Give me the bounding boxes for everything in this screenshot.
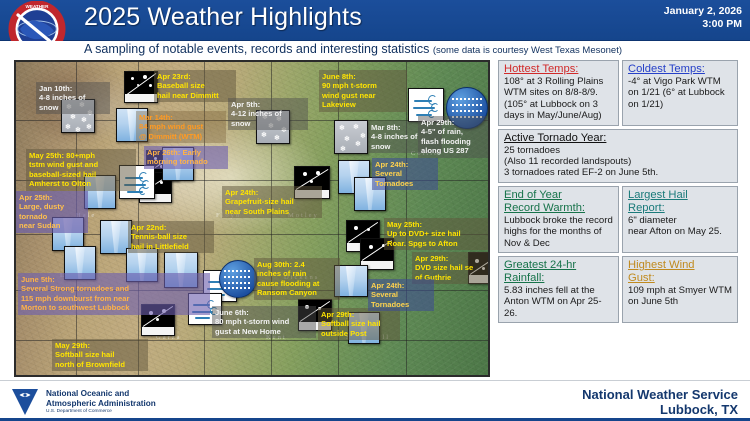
- footer-bar: National Oceanic and Atmospheric Adminis…: [0, 380, 750, 421]
- stat-body: 109 mph at Smyer WTM on June 5th: [628, 285, 733, 308]
- subheader-bar: A sampling of notable events, records an…: [0, 41, 750, 58]
- map-label-apr-25-sudan: Apr 25th: Large, dusty tornado near Suda…: [16, 191, 88, 233]
- stat-body: 108° at 3 Rolling Plains WTM sites on 8/…: [504, 76, 614, 122]
- stat-body: 6" diameter near Afton on May 25.: [628, 215, 733, 238]
- page-title: 2025 Weather Highlights: [84, 3, 362, 32]
- map-label-apr-29-flood: Apr 29th: 4-5" of rain, flash flooding a…: [418, 116, 490, 158]
- header-bar: WEATHER ★ ★ ★ 2025 Weather Highlights Ja…: [0, 0, 750, 41]
- stat-body: 5.83 inches fell at the Anton WTM on Apr…: [504, 285, 614, 319]
- map-label-apr-24-southplains: Apr 24th: Grapefruit-size hail near Sout…: [222, 186, 322, 218]
- stat-body: Lubbock broke the record highs for the m…: [504, 215, 614, 249]
- stat-title: Hottest Temps:: [504, 63, 614, 76]
- header-date: January 2, 2026: [552, 5, 742, 18]
- subtitle-main: A sampling of notable events, records an…: [84, 42, 429, 56]
- stat-card-coldest-temps: Coldest Temps: -4° at Vigo Park WTM on 1…: [622, 60, 738, 126]
- map-label-apr-05-snow: Apr 5th: 4-12 inches of snow: [228, 98, 308, 130]
- subtitle: A sampling of notable events, records an…: [84, 42, 622, 56]
- noaa-line-3: U.S. Department of Commerce: [46, 409, 156, 414]
- svg-text:WEATHER: WEATHER: [26, 4, 50, 9]
- map-label-apr-26-tornado: Apr 26th: Early morning tornado: [144, 146, 228, 169]
- stat-row-tornado: Active Tornado Year: 25 tornadoes (Also …: [498, 129, 738, 183]
- map-label-apr-23-hail: Apr 23rd: Baseball size hail near Dimmit…: [154, 70, 236, 102]
- flood-icon: [219, 260, 257, 298]
- county-line: [204, 62, 205, 375]
- stat-title: Active Tornado Year:: [504, 132, 733, 145]
- office-location: Lubbock, TX: [582, 403, 738, 418]
- stat-title: Coldest Temps:: [628, 63, 733, 76]
- map-label-may-29-brownfield: May 29th: Softball size hail north of Br…: [52, 339, 148, 371]
- stat-row-warmth-hail: End of Year Record Warmth: Lubbock broke…: [498, 186, 738, 253]
- stat-card-end-of-year-record-warmth: End of Year Record Warmth: Lubbock broke…: [498, 186, 619, 253]
- stat-body: 25 tornadoes (Also 11 recorded landspout…: [504, 145, 733, 179]
- map-label-apr-24-tornadoes-north: Apr 24th: Several Tornadoes: [372, 158, 438, 190]
- stat-title: End of Year Record Warmth:: [504, 189, 614, 215]
- hail-photo-icon: [124, 71, 158, 103]
- header-time: 3:00 PM: [552, 18, 742, 31]
- noaa-line-2: Atmospheric Administration: [46, 399, 156, 409]
- map-label-apr-24-tornadoes-south: Apr 24th: Several Tornadoes: [368, 279, 434, 311]
- map-label-jan-10-snow: Jan 10th: 4-8 inches of snow: [36, 82, 110, 114]
- office-identification: National Weather Service Lubbock, TX: [582, 388, 738, 417]
- map-label-jun-08-wind: June 8th: 90 mph t-storm wind gust near …: [319, 70, 407, 112]
- stat-body: -4° at Vigo Park WTM on 1/21 (6° at Lubb…: [628, 76, 733, 110]
- stat-row-rainfall-wind: Greatest 24-hr Rainfall: 5.83 inches fel…: [498, 256, 738, 323]
- regional-event-map: Parmer Castro Hale Floyd Motley Cottle L…: [14, 60, 490, 377]
- stat-title: Highest Wind Gust:: [628, 259, 733, 285]
- noaa-line-1: National Oceanic and: [46, 389, 156, 399]
- office-name: National Weather Service: [582, 388, 738, 403]
- stat-card-hottest-temps: Hottest Temps: 108° at 3 Rolling Plains …: [498, 60, 619, 126]
- stat-card-active-tornado-year: Active Tornado Year: 25 tornadoes (Also …: [498, 129, 738, 183]
- stat-title: Largest Hail Report:: [628, 189, 733, 215]
- weather-highlights-graphic: WEATHER ★ ★ ★ 2025 Weather Highlights Ja…: [0, 0, 750, 421]
- map-label-mar-14-wind: Mar 14th: 84 mph wind gust @ Dimmitt (WT…: [136, 111, 226, 143]
- snow-photo-icon: ❄ ❄ ❄ ❄ ❄ ❄: [334, 120, 368, 154]
- stat-row-temps: Hottest Temps: 108° at 3 Rolling Plains …: [498, 60, 738, 126]
- stat-card-largest-hail-report: Largest Hail Report: 6" diameter near Af…: [622, 186, 738, 253]
- noaa-logo-icon: [10, 388, 40, 416]
- statistics-sidebar: Hottest Temps: 108° at 3 Rolling Plains …: [498, 60, 738, 377]
- map-label-apr-29-post: Apr 29th: Softball size hail outside Pos…: [318, 308, 400, 340]
- stat-title: Greatest 24-hr Rainfall:: [504, 259, 614, 285]
- map-label-jun-05-tornadoes: June 5th: Several Strong tornadoes and 1…: [18, 273, 210, 315]
- map-label-may-25-dvd-hail: May 25th: Up to DVD+ size hail Roar. Spg…: [384, 218, 488, 250]
- stat-card-highest-wind-gust: Highest Wind Gust: 109 mph at Smyer WTM …: [622, 256, 738, 323]
- map-label-may-25-amherst: May 25th: 80+mph tstm wind gust and base…: [26, 149, 136, 191]
- subtitle-note: (some data is courtesy West Texas Mesone…: [433, 45, 622, 56]
- header-datetime: January 2, 2026 3:00 PM: [552, 5, 742, 30]
- map-label-apr-22-littlefield: Apr 22nd: Tennis-ball size hail in Littl…: [128, 221, 214, 253]
- map-label-jun-06-newhome: June 6th: 80 mph t-storm wind gust at Ne…: [212, 306, 316, 338]
- stat-card-greatest-24hr-rainfall: Greatest 24-hr Rainfall: 5.83 inches fel…: [498, 256, 619, 323]
- map-label-aug-30-ransom: Aug 30th: 2.4 inches of rain cause flood…: [254, 258, 340, 300]
- noaa-agency-text: National Oceanic and Atmospheric Adminis…: [46, 389, 156, 414]
